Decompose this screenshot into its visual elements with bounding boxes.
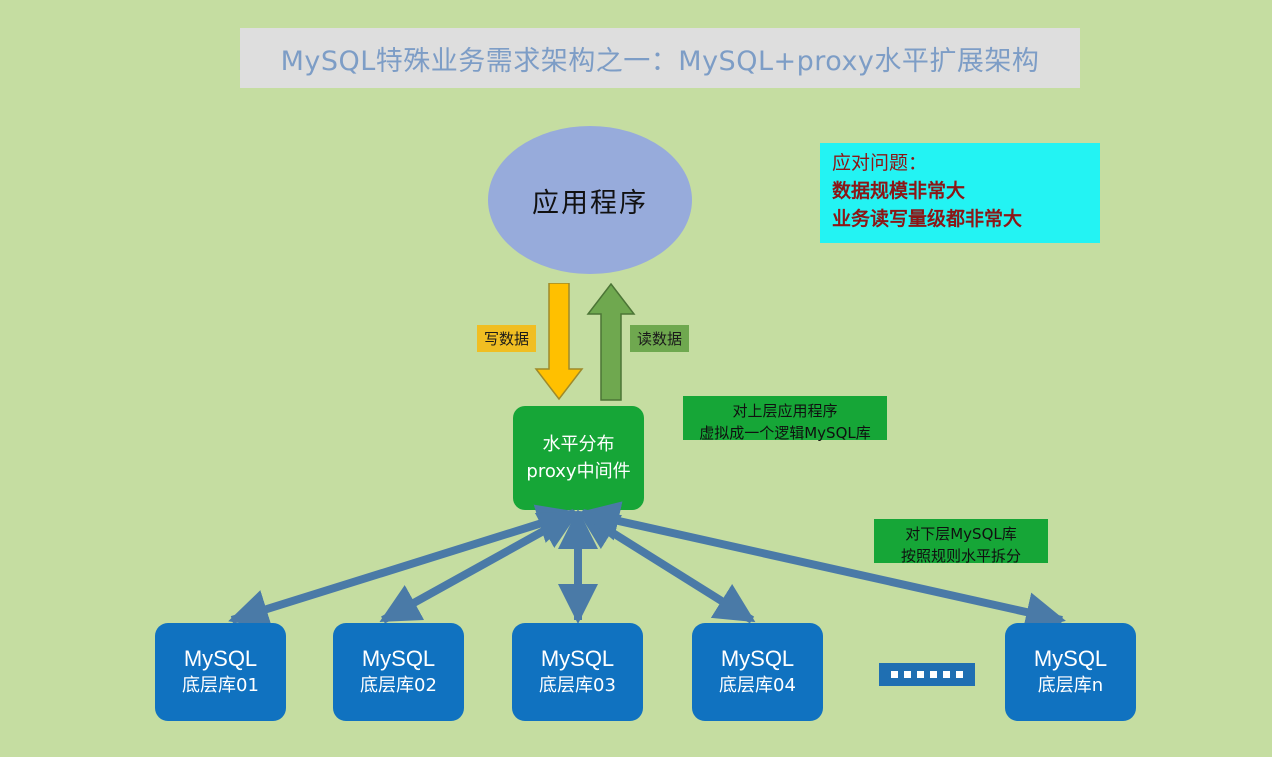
ellipsis-dot [943, 671, 950, 678]
database-subtitle: 底层库n [1038, 673, 1103, 699]
lower-annotation-note: 对下层MySQL库 按照规则水平拆分 [874, 519, 1048, 563]
database-subtitle: 底层库02 [360, 673, 437, 699]
ellipsis-dot [891, 671, 898, 678]
upper-note-line-2: 虚拟成一个逻辑MySQL库 [693, 422, 877, 444]
database-node-04: MySQL 底层库04 [692, 623, 823, 721]
application-node: 应用程序 [488, 126, 692, 274]
database-node-03: MySQL 底层库03 [512, 623, 643, 721]
problem-note-line-2: 数据规模非常大 [832, 177, 1100, 205]
upper-note-line-1: 对上层应用程序 [693, 400, 877, 422]
upper-annotation-note: 对上层应用程序 虚拟成一个逻辑MySQL库 [683, 396, 887, 440]
proxy-line-2: proxy中间件 [526, 458, 630, 485]
ellipsis-indicator [879, 663, 975, 686]
database-subtitle: 底层库01 [182, 673, 259, 699]
title-banner: MySQL特殊业务需求架构之一：MySQL+proxy水平扩展架构 [240, 28, 1080, 88]
ellipsis-dot [904, 671, 911, 678]
connector-to-db-01 [232, 513, 574, 620]
ellipsis-dot [930, 671, 937, 678]
ellipsis-dot [917, 671, 924, 678]
database-title: MySQL [721, 645, 794, 673]
database-title: MySQL [362, 645, 435, 673]
database-node-01: MySQL 底层库01 [155, 623, 286, 721]
lower-note-line-1: 对下层MySQL库 [884, 523, 1038, 545]
database-subtitle: 底层库04 [719, 673, 796, 699]
ellipsis-dot [956, 671, 963, 678]
lower-note-line-2: 按照规则水平拆分 [884, 545, 1038, 567]
problem-note-line-3: 业务读写量级都非常大 [832, 205, 1100, 233]
database-title: MySQL [184, 645, 257, 673]
database-title: MySQL [1034, 645, 1107, 673]
proxy-line-1: 水平分布 [543, 431, 615, 458]
database-node-n: MySQL 底层库n [1005, 623, 1136, 721]
connector-to-db-02 [383, 513, 576, 620]
diagram-canvas: MySQL特殊业务需求架构之一：MySQL+proxy水平扩展架构 应用程序 应… [0, 0, 1272, 757]
connector-to-db-04 [581, 513, 752, 620]
page-title: MySQL特殊业务需求架构之一：MySQL+proxy水平扩展架构 [281, 39, 1040, 78]
problem-note: 应对问题： 数据规模非常大 业务读写量级都非常大 [820, 143, 1100, 243]
problem-note-line-1: 应对问题： [832, 149, 1100, 177]
application-label: 应用程序 [532, 181, 648, 220]
database-title: MySQL [541, 645, 614, 673]
read-flow-arrow-up-icon [586, 283, 636, 406]
database-node-02: MySQL 底层库02 [333, 623, 464, 721]
proxy-middleware-node: 水平分布 proxy中间件 [513, 406, 644, 510]
write-flow-arrow-down-icon [534, 283, 584, 406]
write-flow-label: 写数据 [477, 325, 536, 352]
read-flow-label: 读数据 [630, 325, 689, 352]
database-subtitle: 底层库03 [539, 673, 616, 699]
